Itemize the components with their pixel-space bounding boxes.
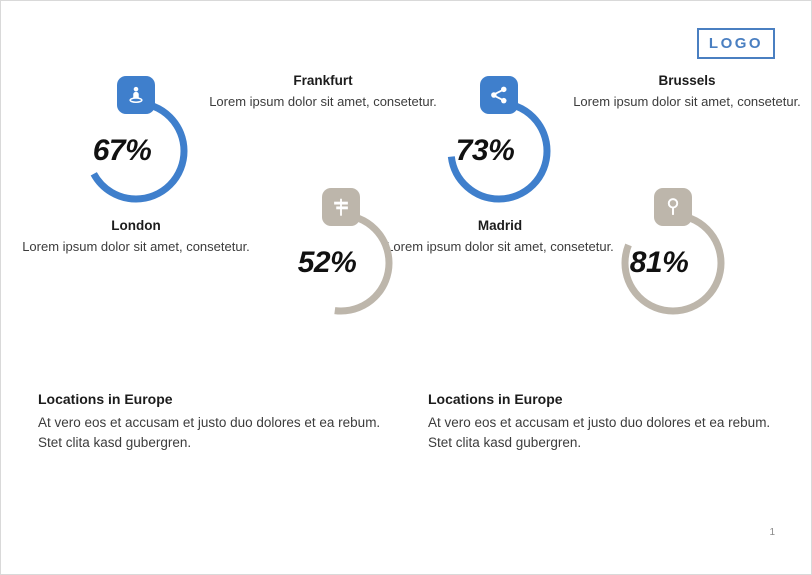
gauge-value-madrid: 73% bbox=[415, 95, 555, 207]
city-desc-madrid: Lorem ipsum dolor sit amet, consetetur. bbox=[385, 238, 615, 257]
text-block-left: Locations in Europe At vero eos et accus… bbox=[38, 390, 398, 454]
donut-gauge-frankfurt: 52% bbox=[285, 207, 397, 319]
city-name-madrid: Madrid bbox=[385, 218, 615, 235]
donut-gauge-madrid: 73% bbox=[443, 95, 555, 207]
text-block-left-body: At vero eos et accusam et justo duo dolo… bbox=[38, 413, 398, 454]
caption-frankfurt: Frankfurt Lorem ipsum dolor sit amet, co… bbox=[208, 73, 438, 112]
logo-placeholder: LOGO bbox=[697, 28, 775, 59]
city-desc-frankfurt: Lorem ipsum dolor sit amet, consetetur. bbox=[208, 93, 438, 112]
city-desc-brussels: Lorem ipsum dolor sit amet, consetetur. bbox=[572, 93, 802, 112]
slide-canvas: LOGO 67% London Lorem ipsum dolor sit am… bbox=[0, 0, 812, 575]
donut-gauge-brussels: 81% bbox=[617, 207, 729, 319]
text-block-left-title: Locations in Europe bbox=[38, 390, 398, 408]
logo-text: LOGO bbox=[709, 36, 763, 51]
city-name-brussels: Brussels bbox=[572, 73, 802, 90]
text-block-right-body: At vero eos et accusam et justo duo dolo… bbox=[428, 413, 788, 454]
city-name-london: London bbox=[21, 218, 251, 235]
page-number: 1 bbox=[769, 528, 775, 538]
caption-brussels: Brussels Lorem ipsum dolor sit amet, con… bbox=[572, 73, 802, 112]
gauge-value-frankfurt: 52% bbox=[257, 207, 397, 319]
text-block-right-title: Locations in Europe bbox=[428, 390, 788, 408]
caption-london: London Lorem ipsum dolor sit amet, conse… bbox=[21, 218, 251, 257]
gauge-value-london: 67% bbox=[52, 95, 192, 207]
text-block-right: Locations in Europe At vero eos et accus… bbox=[428, 390, 788, 454]
gauge-value-brussels: 81% bbox=[589, 207, 729, 319]
donut-gauge-london: 67% bbox=[80, 95, 192, 207]
caption-madrid: Madrid Lorem ipsum dolor sit amet, conse… bbox=[385, 218, 615, 257]
city-name-frankfurt: Frankfurt bbox=[208, 73, 438, 90]
city-desc-london: Lorem ipsum dolor sit amet, consetetur. bbox=[21, 238, 251, 257]
